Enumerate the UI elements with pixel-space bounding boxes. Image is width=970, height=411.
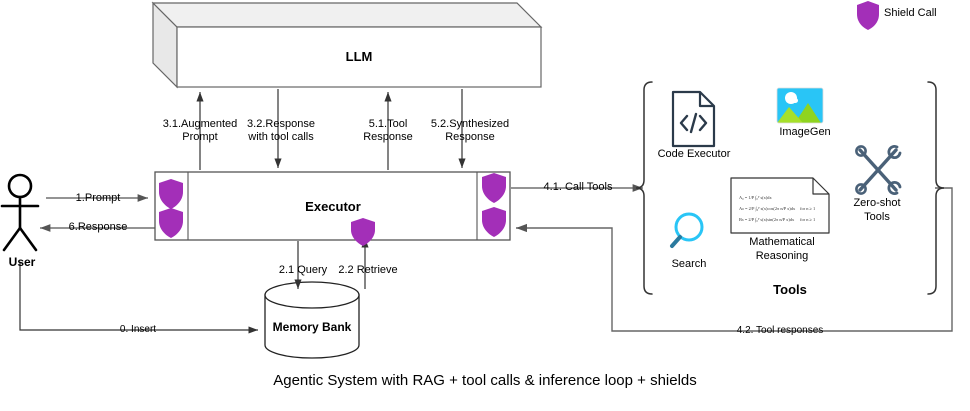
legend-shield-label: Shield Call	[884, 7, 937, 20]
llm-label: LLM	[346, 50, 373, 63]
tool-label-zeroshot-line1: Zero-shot	[853, 197, 900, 210]
diagram-canvas: A₀ = 1/P ∫₀ᴾ s(x)dx Aₙ = 2/P ∫₀ᴾ s(x)cos…	[0, 0, 970, 411]
code-file-icon	[673, 92, 714, 146]
tools-group-label: Tools	[773, 283, 807, 296]
edge-label-retrieve: 2.2 Retrieve	[338, 264, 397, 277]
edge-label-tool-responses: 4.2. Tool responses	[737, 324, 824, 337]
memory-bank-label: Memory Bank	[273, 321, 352, 334]
edge-label-augmented-prompt-line1: 3.1.Augmented	[163, 118, 238, 131]
edge-label-query: 2.1 Query	[279, 264, 327, 277]
crossed-wrenches-icon	[856, 146, 900, 193]
tool-label-image-gen: ImageGen	[779, 126, 830, 139]
edge-label-synthesized-response-line2: Response	[445, 131, 495, 144]
tool-label-zeroshot-line2: Tools	[864, 211, 890, 224]
edge-label-synthesized-response-line1: 5.2.Synthesized	[431, 118, 509, 131]
magnifier-icon	[672, 214, 702, 246]
edge-label-prompt: 1.Prompt	[76, 192, 121, 205]
edge-label-response: 6.Response	[69, 221, 128, 234]
tool-label-math-line2: Reasoning	[756, 250, 809, 263]
edge-label-tool-response-line2: Response	[363, 131, 413, 144]
diagram-caption: Agentic System with RAG + tool calls & i…	[273, 374, 697, 387]
executor-label: Executor	[305, 200, 361, 213]
svg-text:for n ≥ 1: for n ≥ 1	[800, 217, 815, 222]
image-gen-icon	[777, 88, 823, 123]
tool-label-math-line1: Mathematical	[749, 236, 814, 249]
edge-label-call-tools: 4.1. Call Tools	[544, 181, 613, 194]
edge-label-insert: 0. Insert	[120, 323, 156, 336]
tool-label-code-executor: Code Executor	[658, 148, 731, 161]
shield-icon-memory	[351, 218, 375, 246]
edge-label-response-tools-line1: 3.2.Response	[247, 118, 315, 131]
user-figure	[2, 175, 38, 250]
edge-label-tool-response-line1: 5.1.Tool	[369, 118, 408, 131]
llm-node	[153, 3, 541, 87]
edge-label-augmented-prompt-line2: Prompt	[182, 131, 217, 144]
edge-insert	[20, 262, 258, 330]
svg-text:for n ≥ 1: for n ≥ 1	[800, 206, 815, 211]
math-document-icon: A₀ = 1/P ∫₀ᴾ s(x)dx Aₙ = 2/P ∫₀ᴾ s(x)cos…	[731, 178, 829, 233]
shield-icon-legend	[857, 1, 879, 30]
diagram-svg: A₀ = 1/P ∫₀ᴾ s(x)dx Aₙ = 2/P ∫₀ᴾ s(x)cos…	[0, 0, 970, 411]
edge-label-response-tools-line2: with tool calls	[248, 131, 313, 144]
tool-label-search: Search	[672, 258, 707, 271]
user-label: User	[9, 256, 36, 269]
